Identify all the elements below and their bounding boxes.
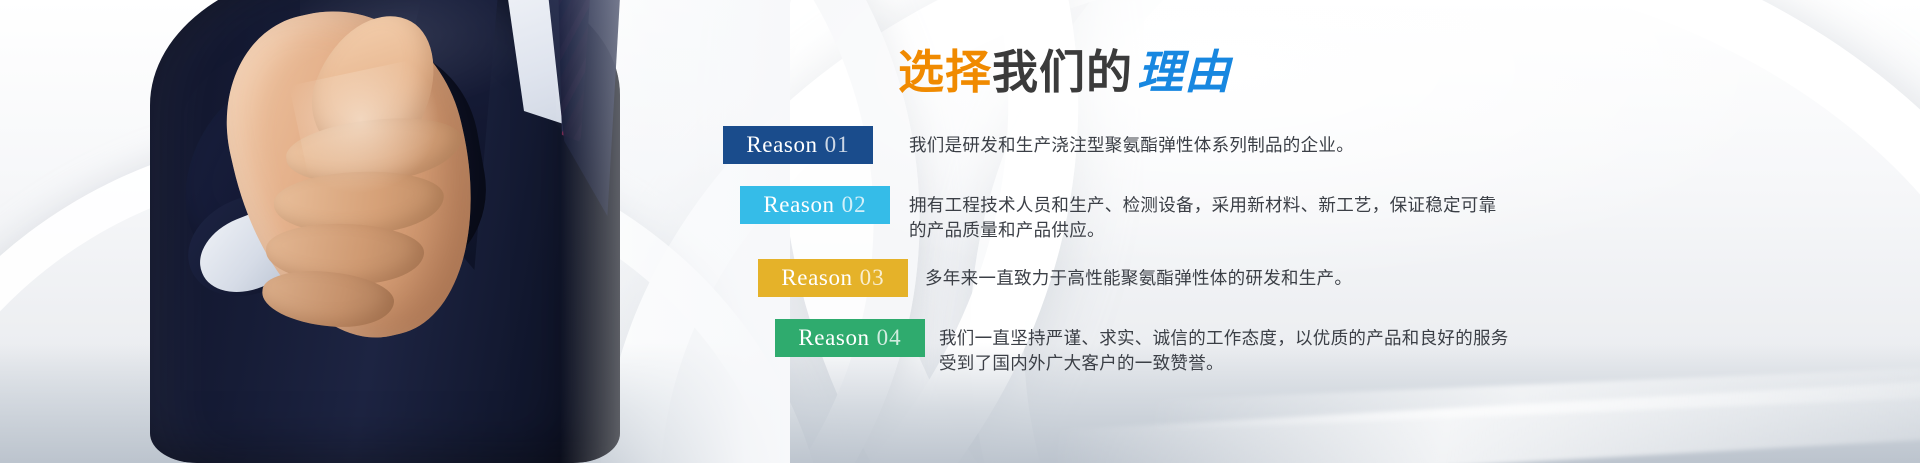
reason-badge-04[interactable]: Reason04: [775, 319, 925, 357]
promo-banner: 选择我们的理由 Reason01 我们是研发和生产浇注型聚氨酯弹性体系列制品的企…: [0, 0, 1920, 463]
headline-part-orange: 选择: [898, 46, 992, 98]
reason-badge-number-03: 03: [853, 265, 885, 291]
headline-part-blue: 理由: [1133, 46, 1231, 98]
reason-text-02: 拥有工程技术人员和生产、检测设备，采用新材料、新工艺，保证稳定可靠 的产品质量和…: [909, 186, 1496, 243]
reason-badge-label-04: Reason: [798, 325, 869, 351]
banner-headline: 选择我们的理由: [898, 49, 1231, 95]
reason-item-01: Reason01 我们是研发和生产浇注型聚氨酯弹性体系列制品的企业。: [0, 126, 1920, 170]
reason-badge-03[interactable]: Reason03: [758, 259, 908, 297]
reason-item-02: Reason02 拥有工程技术人员和生产、检测设备，采用新材料、新工艺，保证稳定…: [0, 186, 1920, 243]
reason-badge-02[interactable]: Reason02: [740, 186, 890, 224]
reason-badge-number-04: 04: [870, 325, 902, 351]
reason-text-01: 我们是研发和生产浇注型聚氨酯弹性体系列制品的企业。: [909, 126, 1354, 158]
reason-item-03: Reason03 多年来一直致力于高性能聚氨酯弹性体的研发和生产。: [0, 259, 1920, 303]
reason-badge-number-02: 02: [835, 192, 867, 218]
reason-item-04: Reason04 我们一直坚持严谨、求实、诚信的工作态度，以优质的产品和良好的服…: [0, 319, 1920, 376]
reason-badge-label-02: Reason: [763, 192, 834, 218]
reason-text-04: 我们一直坚持严谨、求实、诚信的工作态度，以优质的产品和良好的服务 受到了国内外广…: [939, 319, 1509, 376]
reason-badge-01[interactable]: Reason01: [723, 126, 873, 164]
reason-badge-label-01: Reason: [746, 132, 817, 158]
reason-list: Reason01 我们是研发和生产浇注型聚氨酯弹性体系列制品的企业。 Reaso…: [0, 126, 1920, 392]
reason-badge-label-03: Reason: [781, 265, 852, 291]
reason-text-03: 多年来一直致力于高性能聚氨酯弹性体的研发和生产。: [925, 259, 1352, 291]
banner-content: 选择我们的理由 Reason01 我们是研发和生产浇注型聚氨酯弹性体系列制品的企…: [0, 0, 1920, 463]
reason-badge-number-01: 01: [818, 132, 850, 158]
headline-part-dark: 我们的: [992, 46, 1133, 98]
